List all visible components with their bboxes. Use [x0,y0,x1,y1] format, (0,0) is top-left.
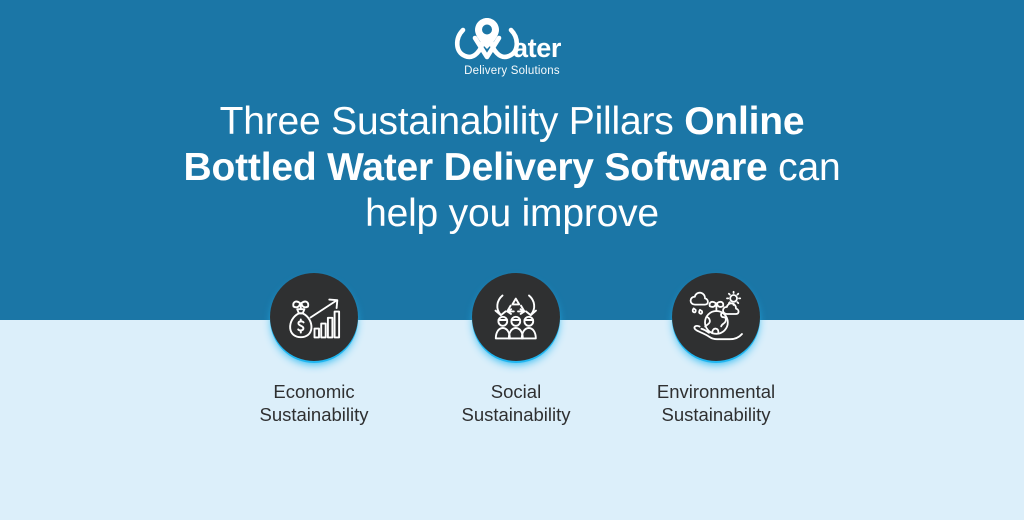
brand-tagline: Delivery Solutions [464,65,560,77]
water-drop-pin-logo-icon: ater [451,18,573,64]
page-title: Three Sustainability Pillars Online Bott… [72,99,952,237]
money-bag-growth-chart-icon [270,273,358,361]
pillar-social: Social Sustainability [416,273,616,426]
headline-line2-bold: Bottled Water Delivery Software [184,146,768,189]
pillar-environmental: Environmental Sustainability [616,273,816,426]
pillar-label: Environmental Sustainability [657,380,775,426]
hand-holding-globe-plant-icon [672,273,760,361]
people-recycling-icon [472,273,560,361]
headline-line1-bold: Online [684,100,804,143]
pillar-economic: Economic Sustainability [214,273,414,426]
headline-line2-normal: can [768,146,841,189]
pillar-label: Economic Sustainability [259,380,368,426]
sustainability-banner: ater Delivery Solutions Three Sustainabi… [0,0,1024,520]
headline-line3-normal: help you improve [365,192,659,235]
brand-logo: ater Delivery Solutions [0,18,1024,88]
svg-text:ater: ater [513,33,562,63]
pillar-label: Social Sustainability [461,380,570,426]
headline-line1-normal: Three Sustainability Pillars [220,100,685,143]
pillars-row: Economic Sustainability [0,273,1024,426]
